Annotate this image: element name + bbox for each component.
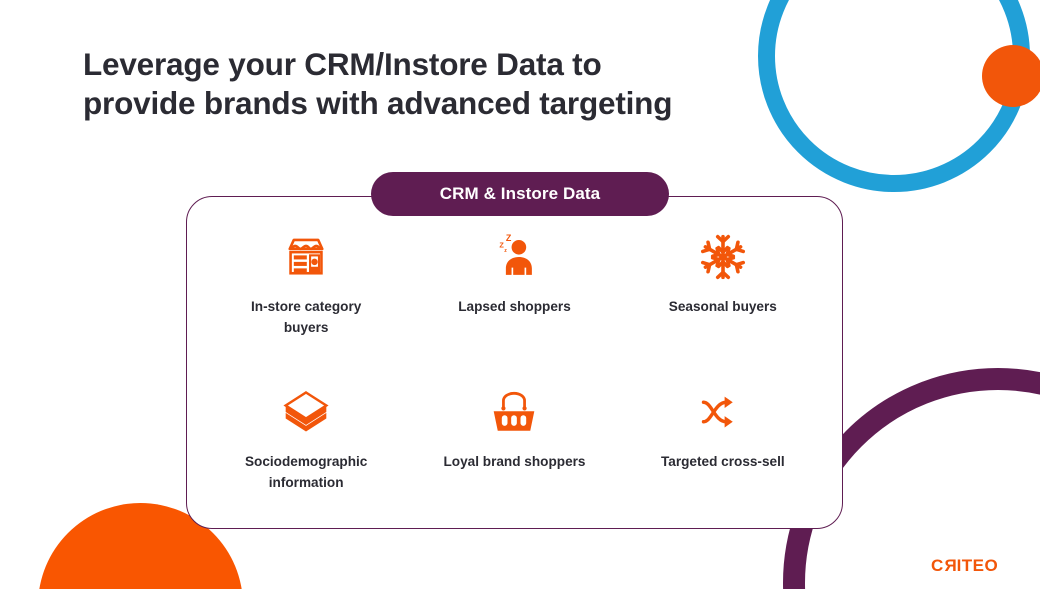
- segment-item-seasonal-buyers[interactable]: Seasonal buyers: [619, 231, 827, 372]
- segment-item-label: Loyal brand shoppers: [443, 451, 585, 472]
- card-badge-label: CRM & Instore Data: [440, 184, 601, 204]
- shuffle-arrows-icon: [697, 386, 749, 438]
- orange-dot-decoration: [982, 45, 1040, 107]
- layers-icon: [280, 386, 332, 438]
- shopping-basket-icon: [488, 386, 540, 438]
- segment-item-targeted-cross-sell[interactable]: Targeted cross-sell: [619, 372, 827, 513]
- svg-text:Z: Z: [506, 233, 512, 243]
- page-title: Leverage your CRM/Instore Data to provid…: [83, 45, 813, 122]
- segment-item-label: Lapsed shoppers: [458, 296, 571, 317]
- segment-item-sociodemographic-information[interactable]: Sociodemographic information: [202, 372, 410, 513]
- logo-text-part2: ITEO: [957, 556, 999, 576]
- logo-flipped-r: R: [944, 556, 957, 576]
- svg-text:z: z: [505, 248, 508, 254]
- title-line-1: Leverage your CRM/Instore Data to: [83, 45, 813, 84]
- slide-canvas: Leverage your CRM/Instore Data to provid…: [0, 0, 1040, 589]
- segment-item-label: In-store category buyers: [231, 296, 381, 338]
- title-line-2: provide brands with advanced targeting: [83, 84, 813, 123]
- storefront-icon: [280, 231, 332, 283]
- logo-text-part1: C: [931, 556, 944, 576]
- segment-item-label: Sociodemographic information: [231, 451, 381, 493]
- segment-grid: In-store category buyers Z Z z Lapsed sh…: [186, 225, 843, 525]
- segment-item-label: Targeted cross-sell: [661, 451, 785, 472]
- sleeping-person-icon: Z Z z: [488, 231, 540, 283]
- segment-item-loyal-brand-shoppers[interactable]: Loyal brand shoppers: [410, 372, 618, 513]
- snowflake-icon: [697, 231, 749, 283]
- segment-item-label: Seasonal buyers: [669, 296, 777, 317]
- card-badge: CRM & Instore Data: [371, 172, 669, 216]
- segment-item-in-store-category-buyers[interactable]: In-store category buyers: [202, 231, 410, 372]
- criteo-logo: C R ITEO: [931, 556, 998, 576]
- segment-item-lapsed-shoppers[interactable]: Z Z z Lapsed shoppers: [410, 231, 618, 372]
